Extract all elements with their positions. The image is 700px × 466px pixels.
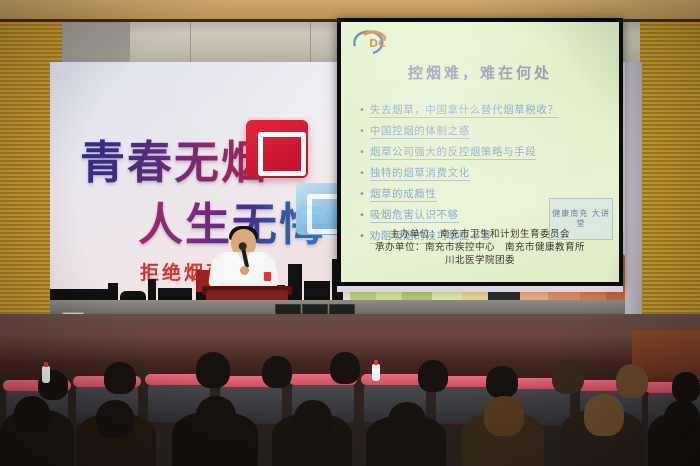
banner-headline-line1: 青春无烟 — [80, 126, 268, 191]
water-bottle — [372, 364, 380, 381]
audience-head — [104, 362, 136, 394]
audience-head — [96, 400, 134, 438]
bullet-dot-icon: • — [359, 209, 365, 222]
list-item: •失去烟草，中国拿什么替代烟草税收？ — [359, 104, 609, 118]
slide-credit-line: 承办单位：南充市疾控中心 南充市健康教育所 — [341, 241, 619, 254]
audience-head — [486, 366, 518, 398]
audience-head — [672, 372, 700, 402]
audience-head — [294, 400, 332, 438]
list-item: •中国控烟的体制之惑 — [359, 125, 609, 139]
bullet-dot-icon: • — [359, 167, 365, 180]
bullet-dot-icon: • — [359, 104, 365, 117]
slide-bullet-text: 失去烟草，中国拿什么替代烟草税收？ — [370, 104, 559, 118]
audience-head — [14, 396, 50, 434]
bullet-dot-icon: • — [359, 146, 365, 159]
slide-bullet-text: 吸烟危害认识不够 — [370, 209, 459, 223]
list-item: •独特的烟草消费文化 — [359, 167, 609, 181]
audience-head — [196, 396, 236, 436]
slide-credits: 主办单位：南充市卫生和计划生育委员会 承办单位：南充市疾控中心 南充市健康教育所… — [341, 228, 619, 267]
audience-head — [664, 400, 700, 438]
audience-head — [330, 352, 360, 384]
audience-head — [262, 356, 292, 388]
audience-head — [584, 394, 624, 436]
slide-title: 控烟难，难在何处 — [341, 62, 619, 83]
bullet-dot-icon: • — [359, 188, 365, 201]
audience-head — [388, 402, 426, 440]
audience-head — [616, 364, 648, 398]
photo-scene: 青春无烟 人生无悔 拒绝烟草 DC — [0, 0, 700, 466]
slide-bullet-text: 烟草公司强大的反控烟策略与手段 — [370, 146, 537, 160]
speaker-badge — [264, 272, 271, 281]
slide-credit-line: 主办单位：南充市卫生和计划生育委员会 — [341, 228, 619, 241]
projector-screen: DC 控烟难，难在何处 •失去烟草，中国拿什么替代烟草税收？ •中国控烟的体制之… — [341, 22, 619, 282]
slide-bullet-text: 烟草的成瘾性 — [370, 188, 437, 202]
screen-bottom-bar — [337, 286, 623, 292]
slide-thumbnail-caption: 健康南充 大讲堂 — [550, 209, 612, 229]
cdc-logo-icon: DC — [351, 28, 399, 58]
banner-smoke-character-block — [246, 120, 308, 178]
list-item: •烟草公司强大的反控烟策略与手段 — [359, 146, 609, 160]
water-bottle — [42, 366, 50, 383]
audience-head — [484, 396, 524, 436]
audience-head — [418, 360, 448, 392]
speaker-hand — [240, 266, 249, 275]
bullet-dot-icon: • — [359, 125, 365, 138]
audience-area — [0, 352, 700, 466]
upper-wall-gray-panel — [62, 22, 130, 67]
audience-head — [552, 360, 584, 394]
slide-credit-line: 川北医学院团委 — [341, 254, 619, 267]
slide-bullet-text: 中国控烟的体制之惑 — [370, 125, 470, 139]
slide-bullet-text: 独特的烟草消费文化 — [370, 167, 470, 181]
svg-text:DC: DC — [369, 37, 386, 50]
audience-head — [196, 352, 230, 388]
